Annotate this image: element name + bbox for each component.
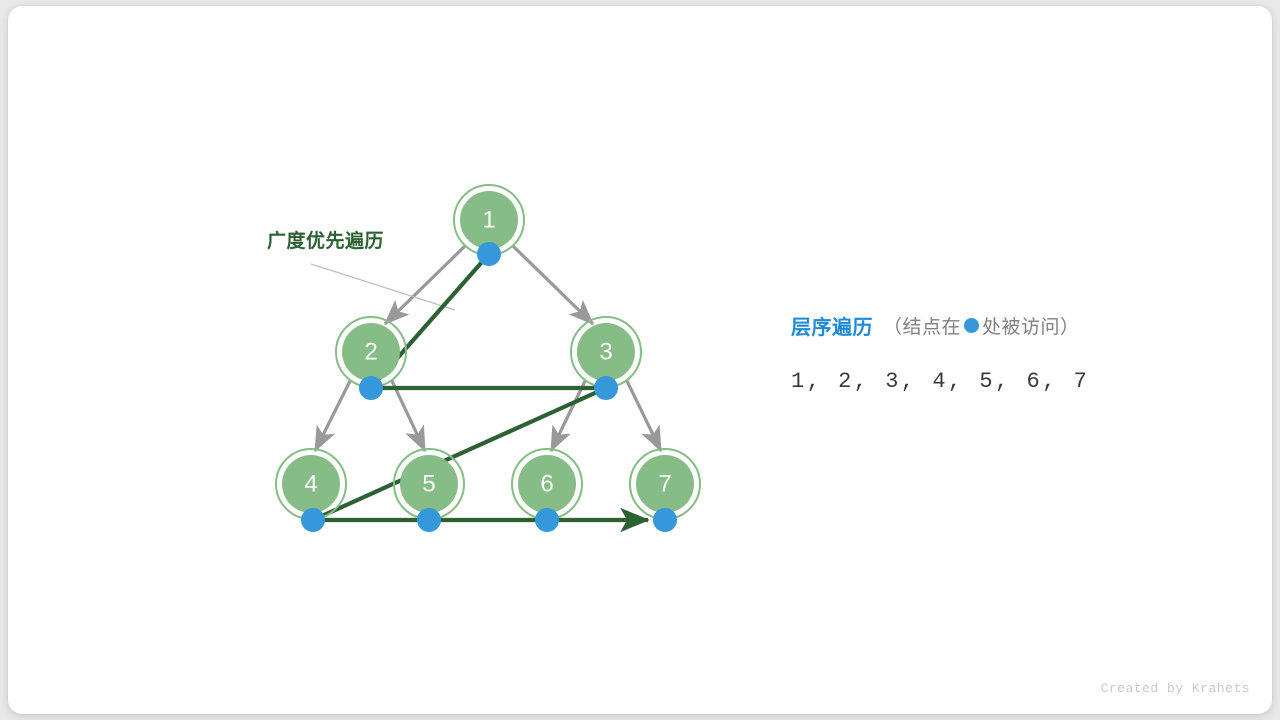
node-label: 3 (599, 339, 612, 366)
visit-dot-node-7[interactable] (653, 508, 677, 532)
visit-dot-node-2[interactable] (359, 376, 383, 400)
visit-dot-node-4[interactable] (301, 508, 325, 532)
visit-dot-node-3[interactable] (594, 376, 618, 400)
traversal-sequence: 1, 2, 3, 4, 5, 6, 7 (791, 369, 1089, 394)
tree-edge-2-5 (392, 381, 425, 451)
node-label: 4 (304, 471, 317, 498)
visit-dot-node-1[interactable] (477, 242, 501, 266)
legend-note-suffix: 处被访问） (982, 312, 1080, 339)
tree-edge-1-2 (385, 246, 465, 324)
legend-note-prefix: （结点在 (883, 312, 961, 339)
node-label: 5 (422, 471, 435, 498)
visit-dot-node-6[interactable] (535, 508, 559, 532)
tree-edge-1-3 (513, 246, 593, 324)
legend-panel: 层序遍历 （结点在 处被访问） 1, 2, 3, 4, 5, 6, 7 (791, 309, 1221, 341)
tree-edge-2-4 (315, 381, 350, 451)
credit-text: Created by Krahets (1101, 681, 1250, 696)
visit-dot-node-5[interactable] (417, 508, 441, 532)
blue-dot-icon (964, 318, 979, 333)
bfs-annotation-label: 广度优先遍历 (267, 226, 384, 253)
legend-heading-row: 层序遍历 （结点在 处被访问） (791, 309, 1221, 341)
node-label: 2 (364, 339, 377, 366)
slide-canvas: 1 2 3 4 5 (8, 6, 1272, 714)
tree-edge-3-7 (627, 381, 661, 451)
legend-note: （结点在 处被访问） (883, 312, 1080, 339)
legend-title: 层序遍历 (791, 311, 873, 340)
binary-tree-bfs-diagram: 1 2 3 4 5 (8, 6, 1272, 714)
node-label: 7 (658, 471, 671, 498)
tree-edge-3-6 (551, 381, 585, 451)
node-label: 1 (482, 207, 495, 234)
node-label: 6 (540, 471, 553, 498)
leader-line (311, 264, 455, 310)
